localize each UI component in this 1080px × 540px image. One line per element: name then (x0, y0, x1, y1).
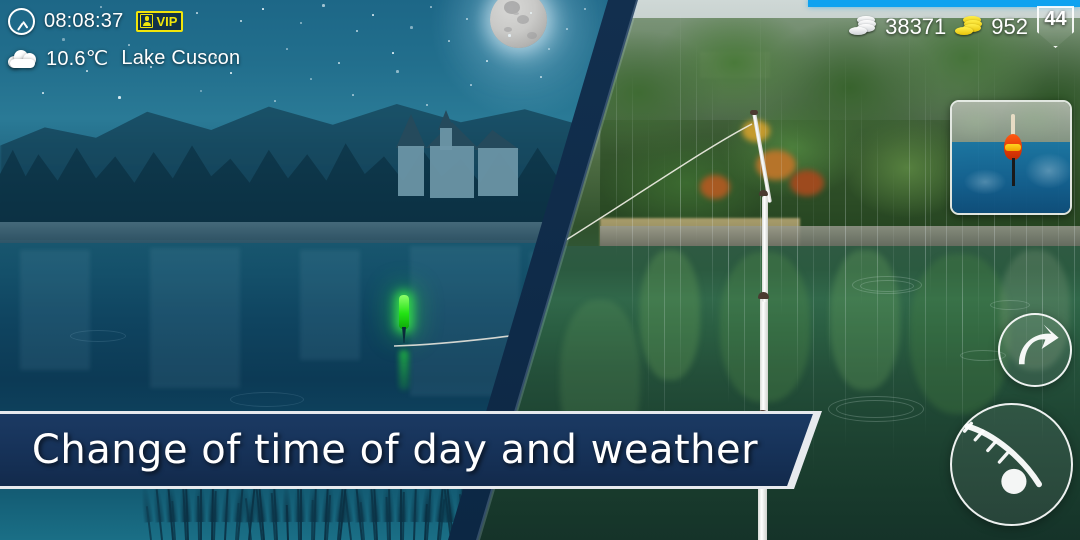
gold-amount: 952 (991, 14, 1028, 40)
clock-icon (8, 8, 35, 35)
fishing-float-icon (1004, 114, 1022, 186)
vip-label: VIP (156, 15, 177, 28)
silver-currency[interactable]: 38371 (849, 14, 946, 40)
location-name: Lake Cuscon (121, 47, 240, 70)
silver-coin-stack-icon (849, 16, 879, 38)
gold-coin-stack-icon (955, 16, 985, 38)
temperature: 10.6℃ (46, 46, 108, 71)
weather-row: 10.6℃ Lake Cuscon (8, 43, 240, 73)
rod-button[interactable] (950, 403, 1073, 526)
time-row: 08:08:37 VIP (8, 6, 240, 36)
promo-banner: Change of time of day and weather (0, 411, 820, 489)
silver-amount: 38371 (885, 14, 946, 40)
vip-badge[interactable]: VIP (136, 11, 183, 32)
game-time: 08:08:37 (44, 10, 123, 33)
game-screen: 08:08:37 VIP 10.6℃ Lake Cuscon (0, 0, 1080, 540)
fishing-rod-icon (952, 405, 1071, 524)
hud-top-left: 08:08:37 VIP 10.6℃ Lake Cuscon (8, 6, 240, 73)
promo-banner-text: Change of time of day and weather (32, 430, 758, 470)
cloud-icon (8, 48, 37, 69)
vip-person-icon (140, 14, 153, 28)
cast-arrow-icon (1000, 315, 1070, 385)
level-badge[interactable]: 44 (1037, 6, 1074, 48)
level-value: 44 (1044, 8, 1066, 31)
cast-button[interactable] (998, 313, 1072, 387)
underwater-view-panel[interactable] (950, 100, 1072, 215)
hud-top-right: 38371 952 44 (849, 6, 1074, 48)
gold-currency[interactable]: 952 (955, 14, 1028, 40)
